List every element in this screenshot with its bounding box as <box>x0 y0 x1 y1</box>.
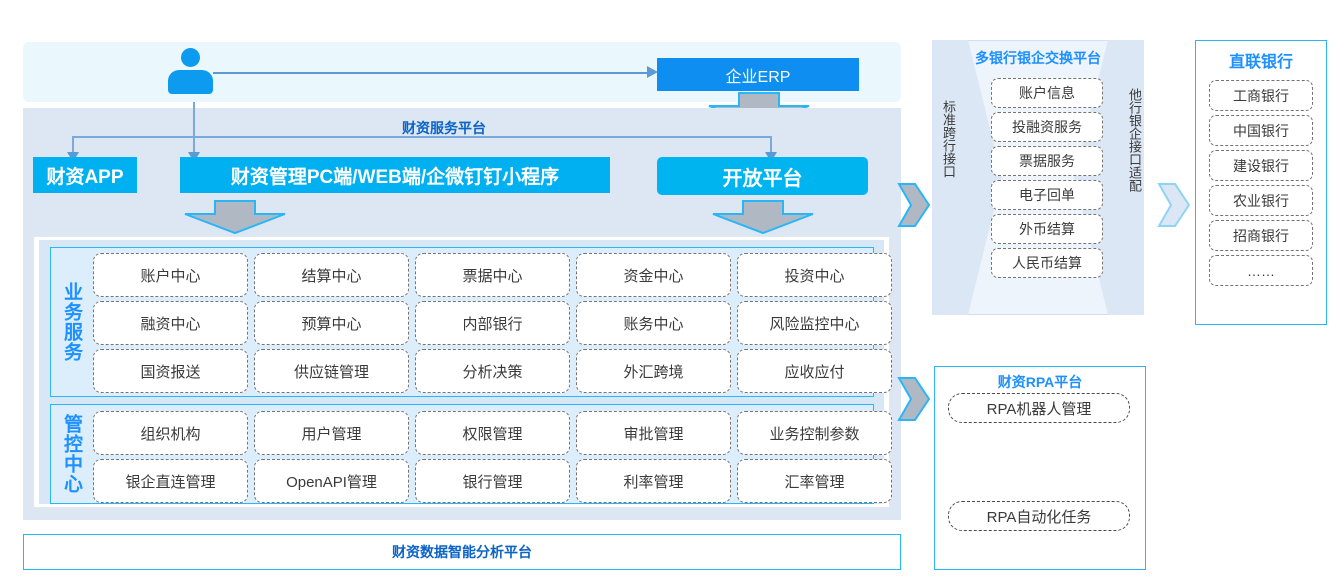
channel-app-box[interactable]: 财资APP <box>33 157 137 193</box>
multi-bank-item[interactable]: 投融资服务 <box>991 112 1103 142</box>
down-arrow-open-to-services-icon <box>711 199 815 235</box>
person-body-icon <box>168 70 213 94</box>
multi-bank-title: 多银行银企交换平台 <box>932 48 1144 68</box>
standard-interface-label: 标准跨行接口 <box>936 100 956 178</box>
direct-bank-item[interactable]: 招商银行 <box>1209 220 1313 251</box>
business-service-item[interactable]: 预算中心 <box>254 301 409 345</box>
business-service-item[interactable]: 结算中心 <box>254 253 409 297</box>
rpa-platform-title: 财资RPA平台 <box>934 372 1146 392</box>
multi-bank-item[interactable]: 外币结算 <box>991 214 1103 244</box>
rpa-item[interactable]: RPA自动化任务 <box>948 501 1130 531</box>
control-center-item[interactable]: 汇率管理 <box>737 459 892 503</box>
business-service-item[interactable]: 国资报送 <box>93 349 248 393</box>
multi-bank-item-list: 账户信息 投融资服务 票据服务 电子回单 外币结算 人民币结算 <box>991 78 1103 278</box>
business-service-item[interactable]: 票据中心 <box>415 253 570 297</box>
business-service-item[interactable]: 融资中心 <box>93 301 248 345</box>
control-center-item[interactable]: 业务控制参数 <box>737 411 892 455</box>
control-center-label: 管控中心 <box>62 410 81 498</box>
multi-bank-item[interactable]: 电子回单 <box>991 180 1103 210</box>
control-center-item[interactable]: 组织机构 <box>93 411 248 455</box>
business-services-label: 业务服务 <box>62 253 81 391</box>
control-center-item[interactable]: 用户管理 <box>254 411 409 455</box>
right-arrow-to-directbank-icon <box>1157 172 1191 238</box>
connector-user-to-erp <box>213 72 653 74</box>
user-person-icon <box>168 48 212 96</box>
business-service-item[interactable]: 供应链管理 <box>254 349 409 393</box>
control-center-item[interactable]: 审批管理 <box>576 411 731 455</box>
control-center-grid: 组织机构 用户管理 权限管理 审批管理 业务控制参数 银企直连管理 OpenAP… <box>93 411 892 503</box>
person-head-icon <box>181 48 200 67</box>
business-service-item[interactable]: 内部银行 <box>415 301 570 345</box>
right-arrow-to-multibank-icon <box>897 172 931 238</box>
direct-bank-item[interactable]: 中国银行 <box>1209 115 1313 146</box>
connector-tree-bar <box>72 136 772 138</box>
direct-banks-item-list: 工商银行 中国银行 建设银行 农业银行 招商银行 …… <box>1209 80 1313 286</box>
business-service-item[interactable]: 应收应付 <box>737 349 892 393</box>
multi-bank-item[interactable]: 人民币结算 <box>991 248 1103 278</box>
control-center-item[interactable]: 银企直连管理 <box>93 459 248 503</box>
business-service-item[interactable]: 资金中心 <box>576 253 731 297</box>
rpa-item[interactable]: RPA机器人管理 <box>948 393 1130 423</box>
control-center-item[interactable]: 利率管理 <box>576 459 731 503</box>
connector-tree-trunk <box>193 102 195 138</box>
direct-banks-title: 直联银行 <box>1195 48 1327 72</box>
control-center-item[interactable]: OpenAPI管理 <box>254 459 409 503</box>
data-analysis-platform-bar[interactable]: 财资数据智能分析平台 <box>23 534 901 570</box>
business-service-item[interactable]: 账务中心 <box>576 301 731 345</box>
multi-bank-item[interactable]: 票据服务 <box>991 146 1103 176</box>
business-services-grid: 账户中心 结算中心 票据中心 资金中心 投资中心 融资中心 预算中心 内部银行 … <box>93 253 892 393</box>
control-center-item[interactable]: 银行管理 <box>415 459 570 503</box>
right-arrow-to-rpa-icon <box>897 366 931 432</box>
business-service-item[interactable]: 风险监控中心 <box>737 301 892 345</box>
channel-open-platform-box[interactable]: 开放平台 <box>657 157 868 195</box>
business-service-item[interactable]: 外汇跨境 <box>576 349 731 393</box>
direct-bank-item[interactable]: …… <box>1209 255 1313 286</box>
other-bank-adapter-label: 他行银企接口适配 <box>1122 88 1142 192</box>
down-arrow-channels-to-services-icon <box>183 199 287 235</box>
direct-bank-item[interactable]: 工商银行 <box>1209 80 1313 111</box>
control-center-item[interactable]: 权限管理 <box>415 411 570 455</box>
direct-bank-item[interactable]: 建设银行 <box>1209 150 1313 181</box>
platform-title: 财资服务平台 <box>402 118 486 138</box>
multi-bank-item[interactable]: 账户信息 <box>991 78 1103 108</box>
direct-bank-item[interactable]: 农业银行 <box>1209 185 1313 216</box>
business-service-item[interactable]: 投资中心 <box>737 253 892 297</box>
business-service-item[interactable]: 分析决策 <box>415 349 570 393</box>
business-service-item[interactable]: 账户中心 <box>93 253 248 297</box>
enterprise-erp-box[interactable]: 企业ERP <box>657 58 859 91</box>
channel-pc-web-box[interactable]: 财资管理PC端/WEB端/企微钉钉小程序 <box>180 157 610 193</box>
